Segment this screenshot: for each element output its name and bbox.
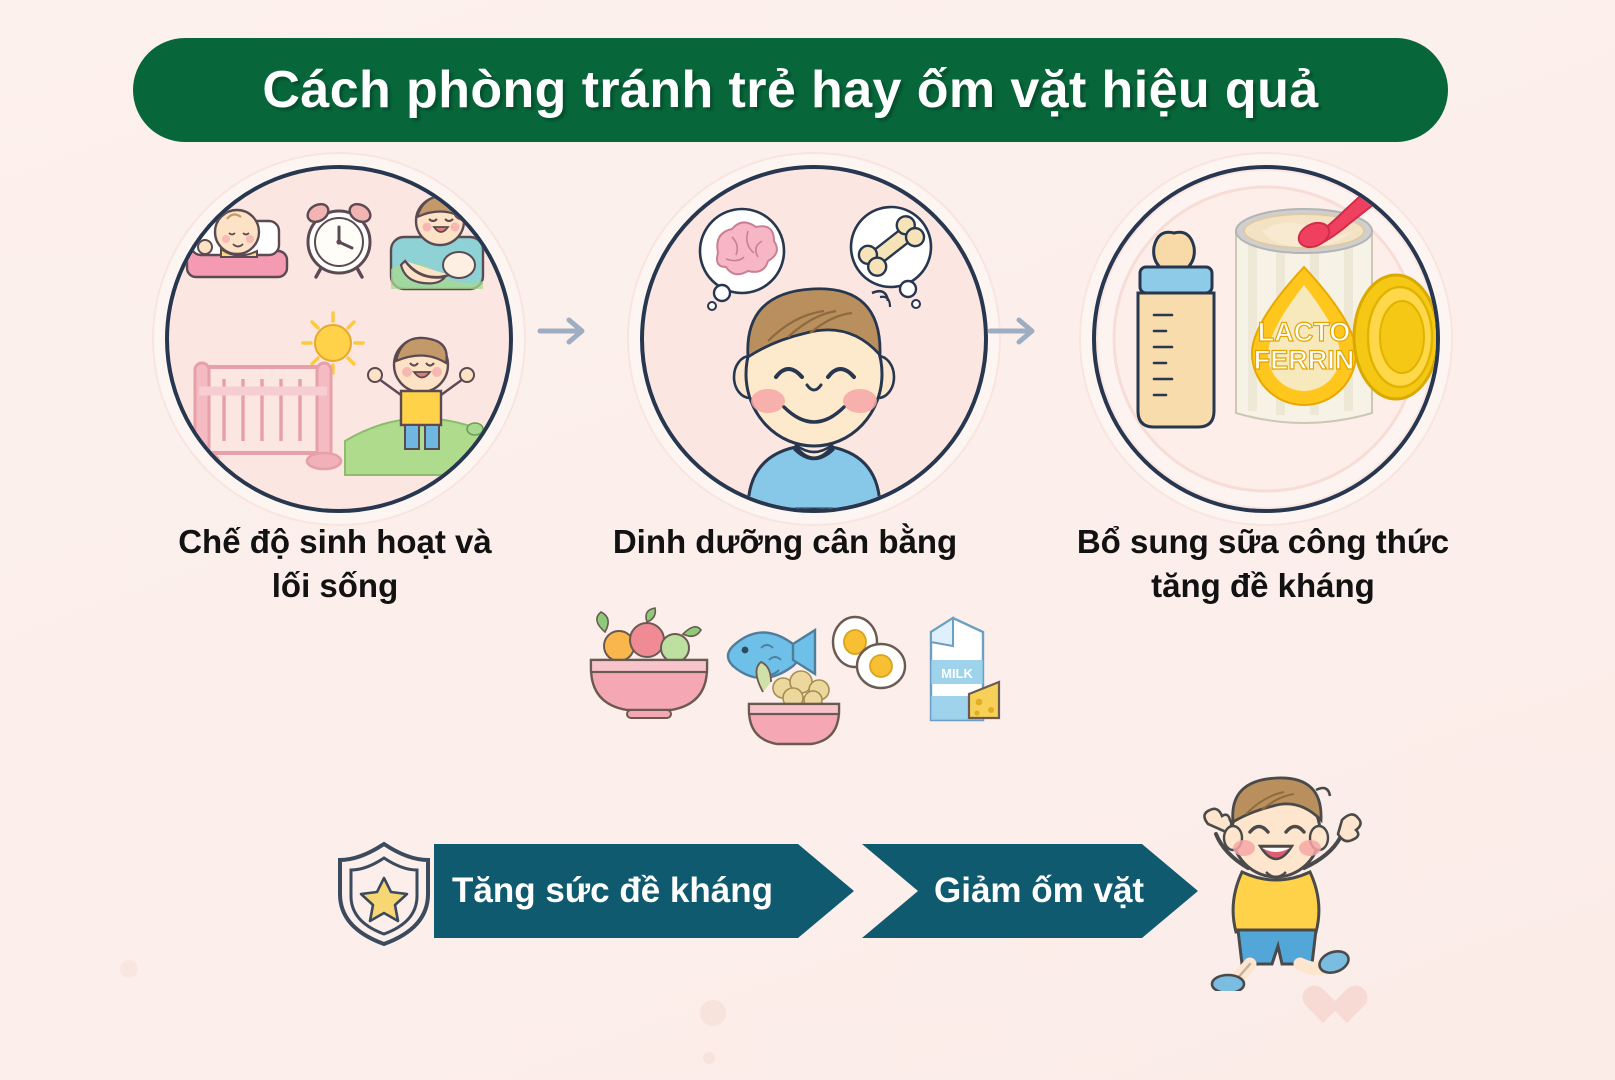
sun-icon [303,313,363,373]
step-3-label: Bổ sung sữa công thức tăng đề kháng [1028,520,1498,607]
outcome-step-2-label: Giảm ốm vặt [934,871,1144,911]
bone-thought-bubble-icon [851,207,931,308]
outcome-step-1-label: Tăng sức đề kháng [452,871,773,911]
step-2-label-line1: Dinh dưỡng cân bằng [570,520,1000,564]
yellow-lid-icon [1354,275,1436,399]
outcome-banner: Tăng sức đề kháng Giảm ốm vặt [336,826,1396,961]
fruit-bowl-icon [591,608,707,718]
steps-row: LACTO FERRIN [0,160,1615,520]
boiled-eggs-icon [833,617,905,688]
grain-bowl-icon [749,662,839,744]
outcome-step-1: Tăng sức đề kháng [434,844,854,938]
step-2-label: Dinh dưỡng cân bằng [570,520,1000,564]
happy-running-boy-icon [1176,776,1376,991]
mother-hugging-baby-icon [391,187,483,289]
step-3-illustration: LACTO FERRIN [1092,165,1440,513]
arrow-right-icon [986,310,1042,352]
step-1-label-line2: lối sống [105,564,565,608]
formula-scene: LACTO FERRIN [1096,169,1436,509]
infographic-canvas: Cách phòng tránh trẻ hay ốm vặt hiệu quả [0,0,1615,1080]
step-2-illustration [640,165,988,513]
arrow-right-icon [536,310,592,352]
background-dot [700,1000,726,1026]
background-dot [120,960,138,978]
baby-crib-icon [185,363,341,469]
can-label-line2: FERRIN [1254,345,1355,375]
step-3-label-line1: Bổ sung sữa công thức [1028,520,1498,564]
background-dot [703,1052,715,1064]
shield-star-icon [336,838,432,946]
title-banner: Cách phòng tránh trẻ hay ốm vặt hiệu quả [133,38,1448,142]
step-1-label-line1: Chế độ sinh hoạt và [105,520,565,564]
outcome-step-2: Giảm ốm vặt [862,844,1198,938]
nutrition-scene [644,169,984,509]
milk-carton-label: MILK [941,666,973,681]
step-3-label-line2: tăng đề kháng [1028,564,1498,608]
brain-thought-bubble-icon [700,209,784,310]
lifestyle-scene [169,169,509,509]
page-title: Cách phòng tránh trẻ hay ốm vặt hiệu quả [262,60,1318,120]
step-1-illustration [165,165,513,513]
can-label-line1: LACTO [1258,317,1351,347]
smiling-boy-icon [734,289,894,509]
food-icon-strip: MILK [565,598,1005,758]
sleeping-baby-icon [187,210,287,277]
child-playing-outdoors-icon [345,338,493,475]
alarm-clock-icon [304,201,373,277]
step-1-label: Chế độ sinh hoạt và lối sống [105,520,565,607]
